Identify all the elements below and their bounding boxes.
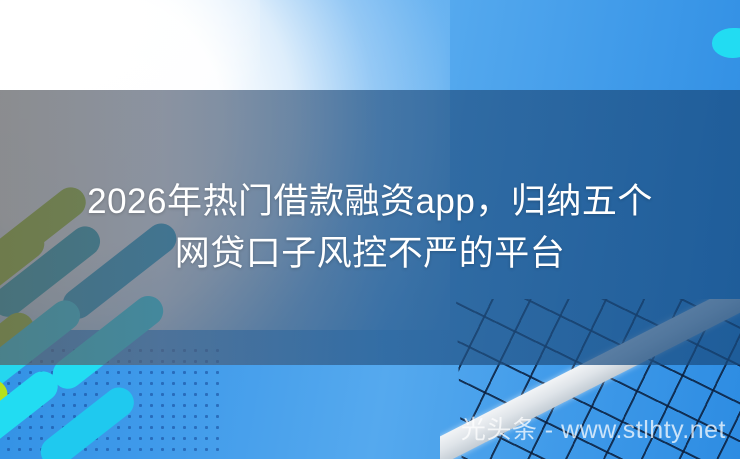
headline-block: 2026年热门借款融资app，归纳五个 网贷口子风控不严的平台: [0, 90, 740, 365]
promo-banner: 2026年热门借款融资app，归纳五个 网贷口子风控不严的平台 光头条 - ww…: [0, 0, 740, 459]
headline-line-1: 2026年热门借款融资app，归纳五个: [87, 176, 653, 228]
site-watermark: 光头条 - www.stlhty.net: [461, 415, 726, 445]
headline-line-2: 网贷口子风控不严的平台: [175, 228, 566, 280]
